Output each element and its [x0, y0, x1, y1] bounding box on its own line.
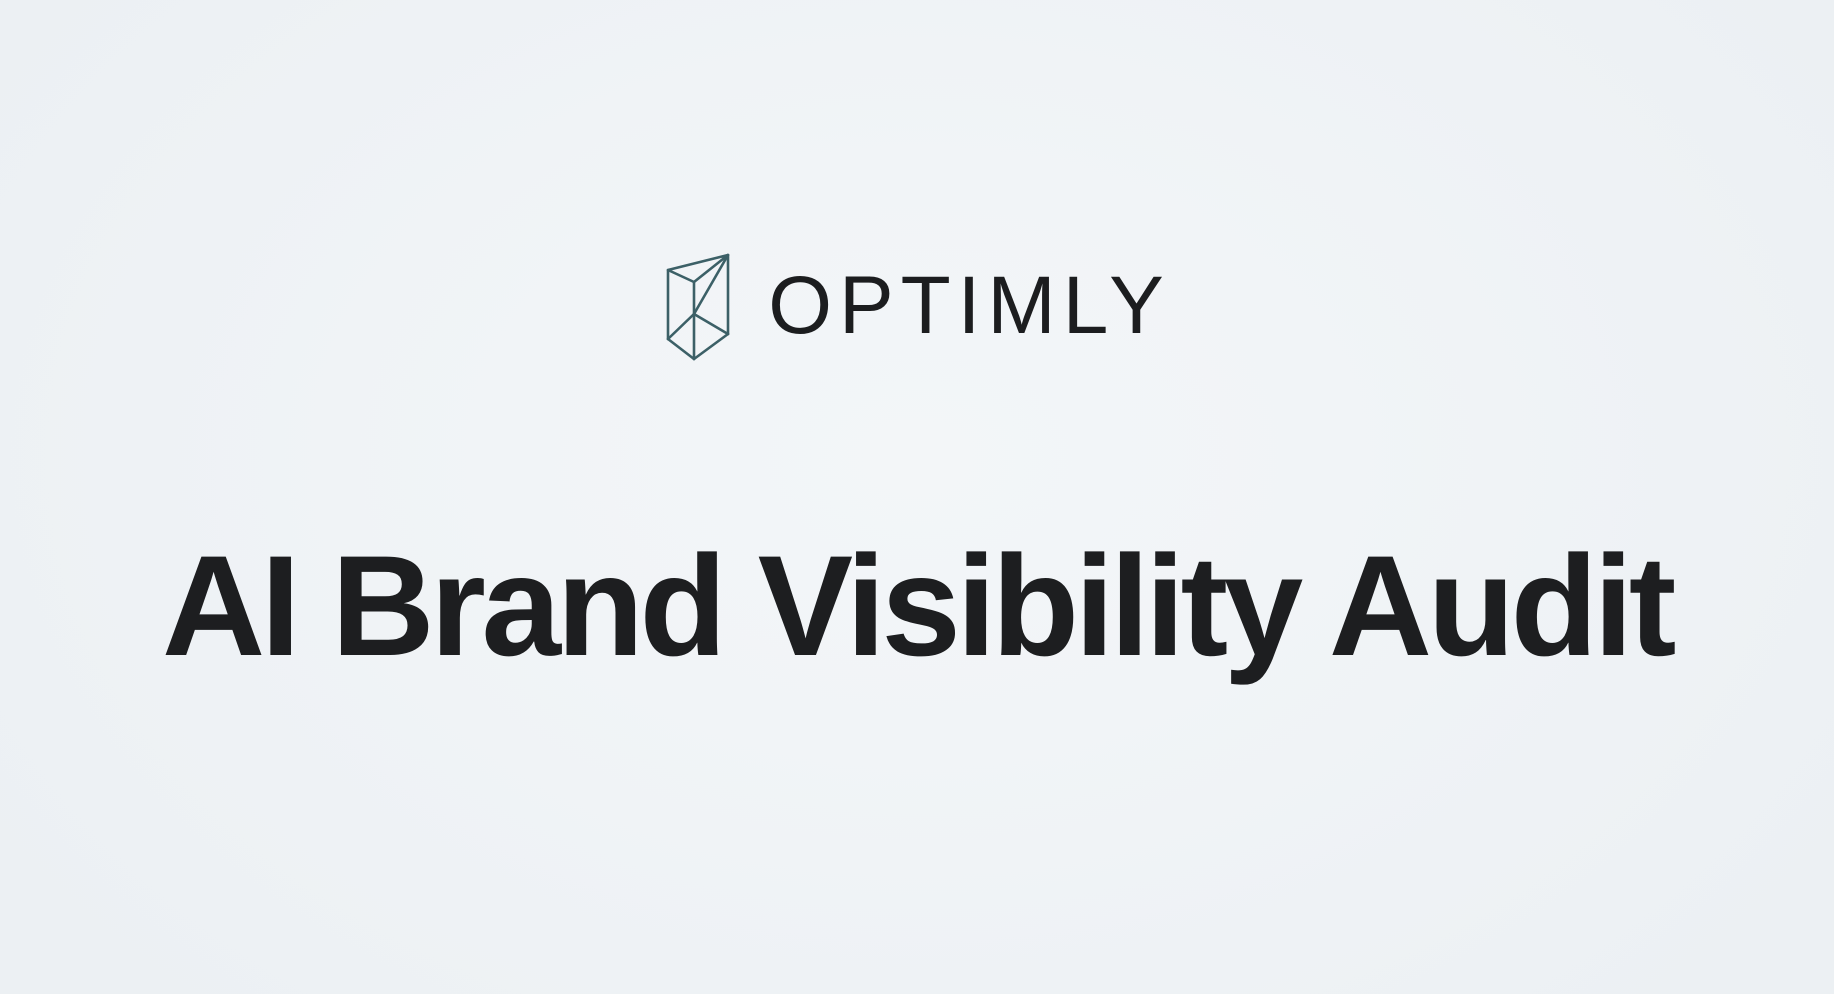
title-slide: OPTIMLY AI Brand Visibility Audit	[0, 0, 1834, 994]
optimly-prism-logo-icon	[656, 247, 732, 363]
brand-lockup: OPTIMLY	[0, 240, 1834, 370]
page-title: AI Brand Visibility Audit	[162, 532, 1672, 682]
optimly-wordmark: OPTIMLY	[768, 265, 1178, 347]
headline-container: AI Brand Visibility Audit	[0, 436, 1834, 778]
